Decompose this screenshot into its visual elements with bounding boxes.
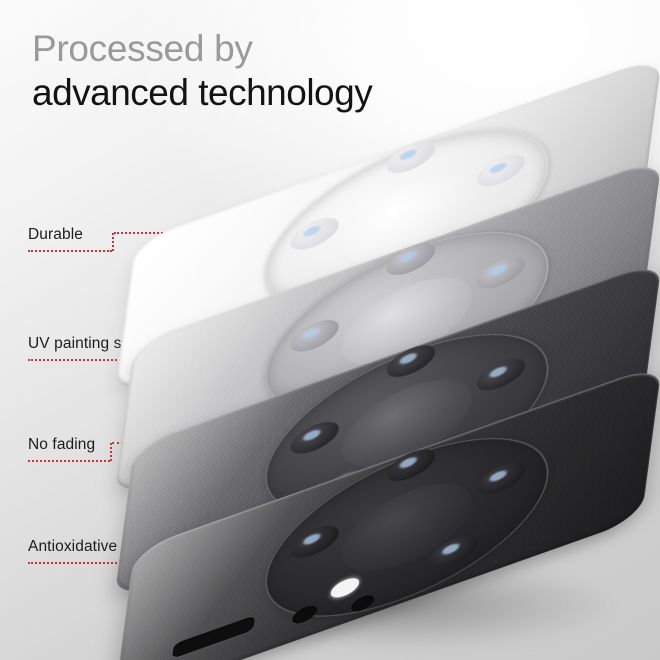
callout-elbow	[110, 443, 112, 461]
callout-underline	[28, 250, 112, 252]
callout-elbow	[112, 233, 114, 251]
callout-label-antioxidative: Antioxidative	[28, 538, 117, 556]
headline: Processed by advanced technology	[32, 30, 372, 111]
callout-label-durable: Durable	[28, 226, 83, 244]
headline-line-1: Processed by	[32, 30, 372, 67]
callout-label-no-fading: No fading	[28, 436, 95, 454]
headline-line-2: advanced technology	[32, 74, 372, 111]
product-feature-graphic: Processed by advanced technology Durable…	[0, 0, 660, 660]
callout-underline	[28, 460, 110, 462]
